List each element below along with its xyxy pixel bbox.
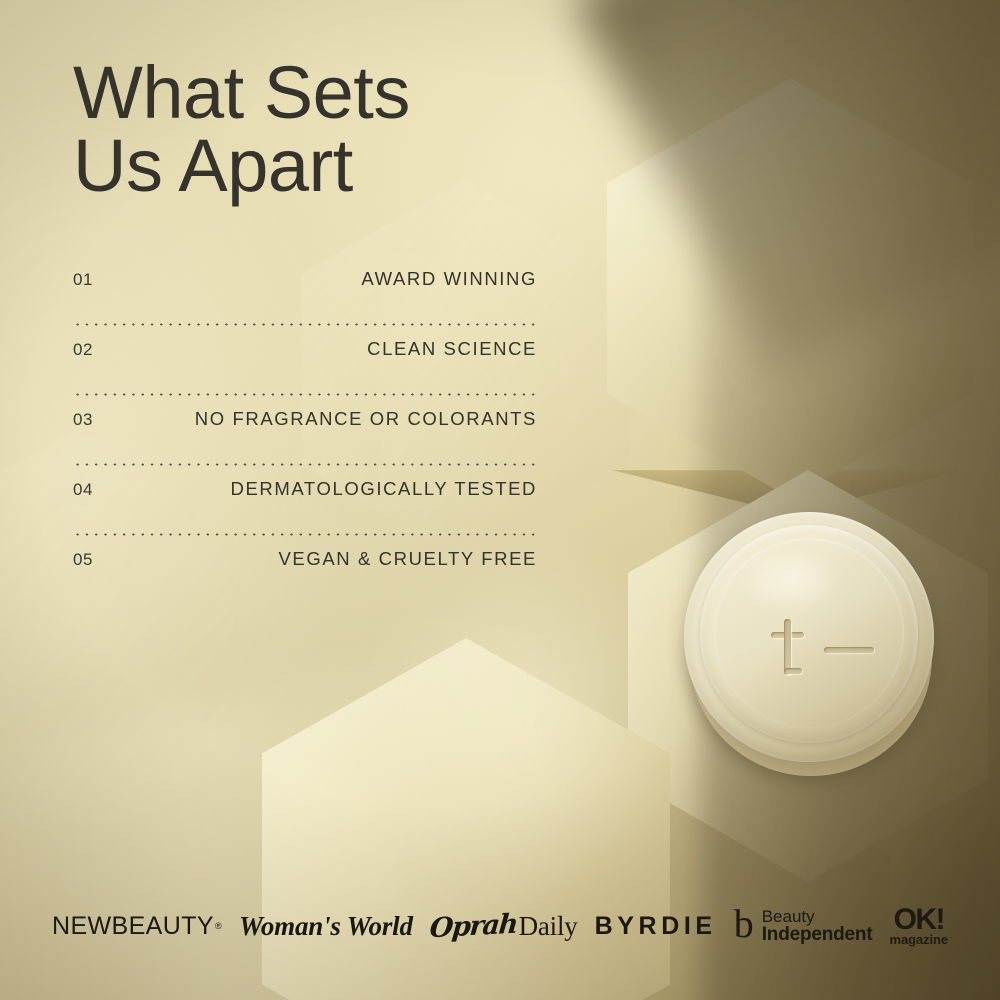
feature-list: 01 AWARD WINNING 02 CLEAN SCIENCE 03 NO … [73,268,537,590]
mark-t-stem [784,619,791,675]
logo-ok-magazine: OK! magazine [890,906,948,947]
logo-womans-world: Woman's World [239,911,413,942]
feature-number: 05 [73,550,93,570]
list-item: 02 CLEAN SCIENCE [73,338,537,380]
logo-ok-mark: OK! [894,906,944,934]
feature-label: VEGAN & CRUELTY FREE [278,548,537,570]
feature-label: AWARD WINNING [361,268,537,290]
list-item: 04 DERMATOLOGICALLY TESTED [73,478,537,520]
logo-byrdie: BYRDIE [595,912,717,941]
mark-t-foot [784,668,802,674]
dotted-divider [73,393,537,396]
brand-mark-icon [762,617,882,679]
list-item: 01 AWARD WINNING [73,268,537,310]
beauty-independent-wordmark: Beauty Independent [762,908,873,945]
dotted-divider [73,533,537,536]
logo-oprah-daily: Oprah Daily [430,911,578,942]
mark-dash [824,647,874,653]
feature-label: DERMATOLOGICALLY TESTED [231,478,538,500]
jar-lid [700,525,918,743]
feature-number: 04 [73,480,93,500]
dotted-divider [73,323,537,326]
logo-newbeauty: NEWBEAUTY® [52,912,222,941]
list-item: 03 NO FRAGRANCE OR COLORANTS [73,408,537,450]
beauty-independent-b-icon: b [734,908,754,940]
logo-oprah-daily-word: Daily [519,911,578,942]
logo-magazine-word: magazine [890,934,948,946]
logo-independent-line: Independent [762,925,873,944]
list-item: 05 VEGAN & CRUELTY FREE [73,548,537,590]
logo-newbeauty-text: NEWBEAUTY [52,912,214,941]
feature-label: NO FRAGRANCE OR COLORANTS [195,408,537,430]
registered-mark-icon: ® [215,921,222,931]
feature-label: CLEAN SCIENCE [367,338,537,360]
feature-number: 01 [73,270,93,290]
page-title: What Sets Us Apart [73,56,410,203]
promo-graphic: What Sets Us Apart 01 AWARD WINNING 02 C… [0,0,1000,1000]
logo-oprah-script: Oprah [428,908,518,943]
product-jar [684,512,934,762]
logo-beauty-line: Beauty [762,908,873,925]
feature-number: 02 [73,340,93,360]
logo-beauty-independent: b Beauty Independent [734,908,873,945]
feature-number: 03 [73,410,93,430]
press-logo-bar: NEWBEAUTY® Woman's World Oprah Daily BYR… [0,898,1000,954]
dotted-divider [73,463,537,466]
